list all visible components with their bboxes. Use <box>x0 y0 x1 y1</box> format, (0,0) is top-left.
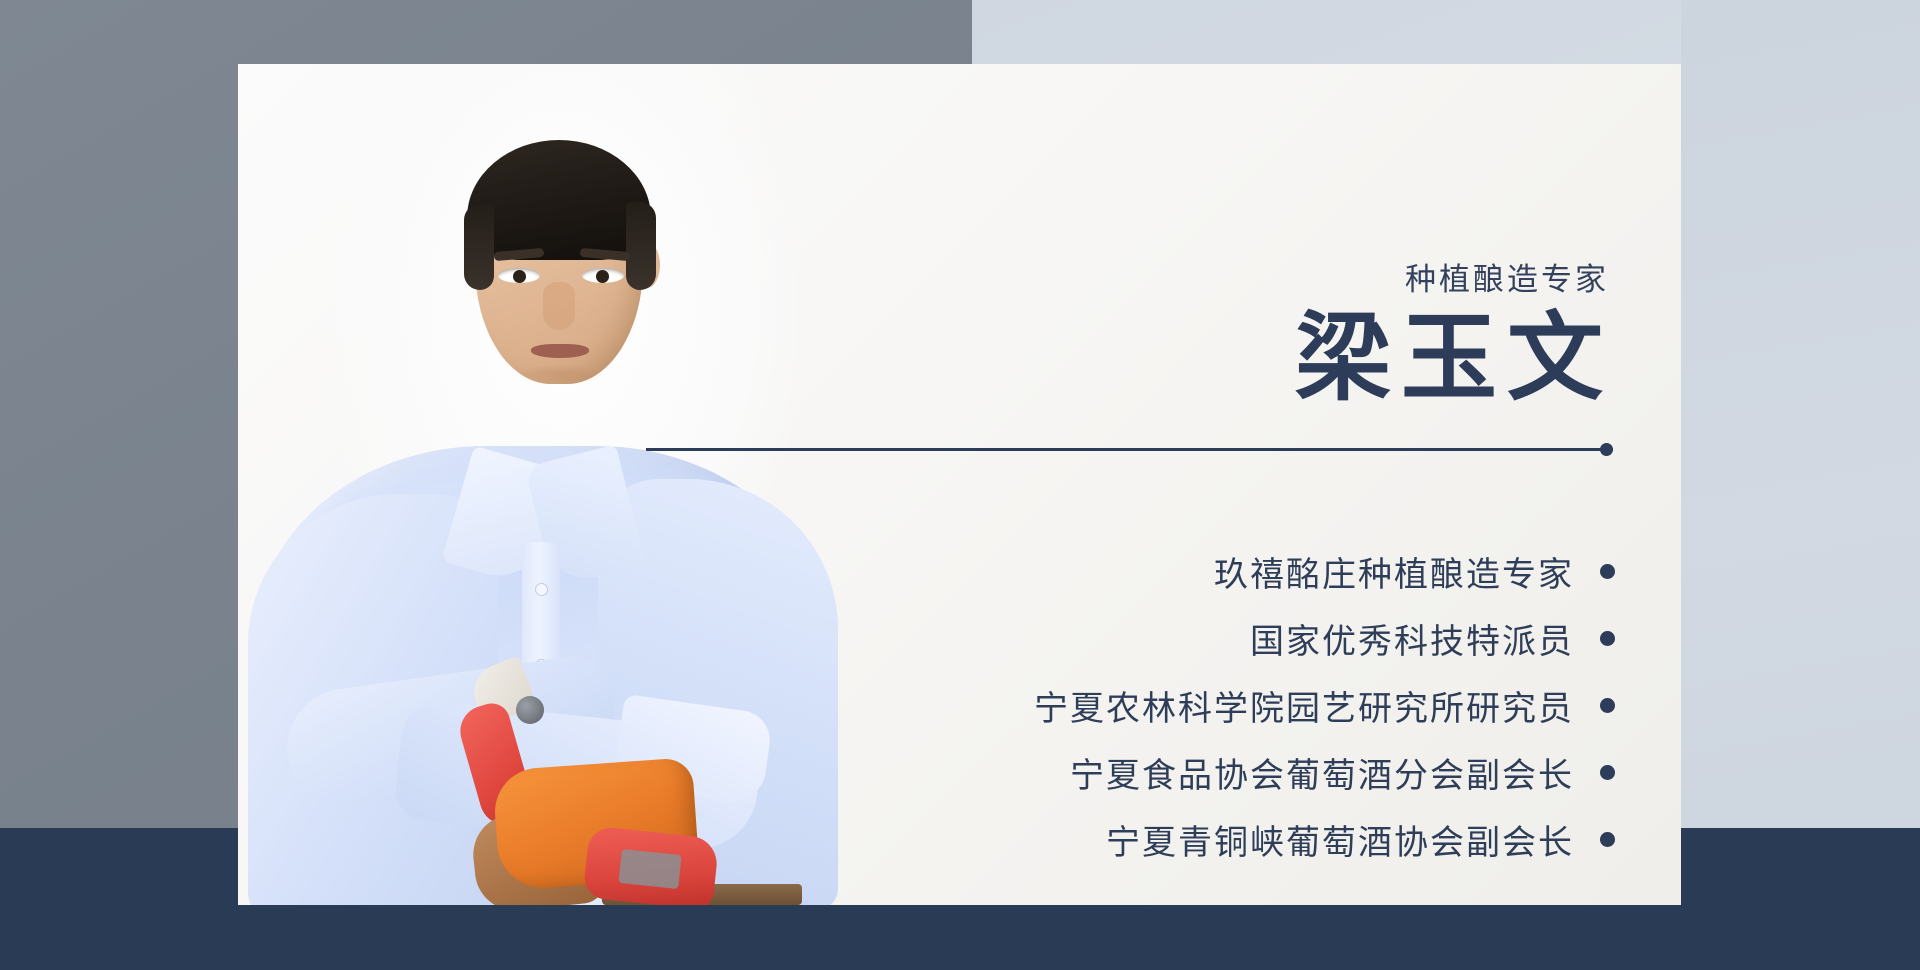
portrait-chin-shadow <box>514 364 606 384</box>
credential-item: 玖禧酩庄种植酿造专家 <box>735 538 1615 605</box>
credential-item: 宁夏农林科学院园艺研究所研究员 <box>735 672 1615 739</box>
credential-label: 玖禧酩庄种植酿造专家 <box>1214 547 1574 596</box>
credential-label: 宁夏食品协会葡萄酒分会副会长 <box>1070 748 1574 797</box>
portrait-hair-side-left <box>464 204 494 290</box>
credential-label: 国家优秀科技特派员 <box>1250 614 1574 663</box>
portrait-mouth <box>531 344 589 358</box>
credential-item: 宁夏青铜峡葡萄酒协会副会长 <box>735 806 1615 873</box>
portrait-hair-side-right <box>626 202 656 290</box>
divider-end-dot-icon <box>1600 443 1613 456</box>
portrait-pupil-right <box>596 270 609 283</box>
credentials-list: 玖禧酩庄种植酿造专家 国家优秀科技特派员 宁夏农林科学院园艺研究所研究员 宁夏食… <box>735 538 1615 873</box>
pruning-shear-label <box>618 849 681 889</box>
person-name: 梁玉文 <box>1295 306 1613 412</box>
bullet-dot-icon <box>1600 564 1615 579</box>
portrait-nose <box>543 282 575 330</box>
divider-line <box>646 448 1613 451</box>
bullet-dot-icon <box>1600 832 1615 847</box>
portrait-pupil-left <box>513 270 526 283</box>
portrait-shirt-button <box>536 584 547 595</box>
profile-card: 种植酿造专家 梁玉文 玖禧酩庄种植酿造专家 国家优秀科技特派员 宁夏农林科学院园… <box>238 64 1681 905</box>
credential-label: 宁夏农林科学院园艺研究所研究员 <box>1034 681 1574 730</box>
pruning-shear-pivot <box>516 696 544 724</box>
bullet-dot-icon <box>1600 631 1615 646</box>
bullet-dot-icon <box>1600 698 1615 713</box>
bullet-dot-icon <box>1600 765 1615 780</box>
credential-label: 宁夏青铜峡葡萄酒协会副会长 <box>1106 815 1574 864</box>
role-eyebrow: 种植酿造专家 <box>1405 254 1609 299</box>
poster-canvas: 种植酿造专家 梁玉文 玖禧酩庄种植酿造专家 国家优秀科技特派员 宁夏农林科学院园… <box>0 0 1920 970</box>
background-right-strip <box>1681 0 1920 860</box>
credential-item: 宁夏食品协会葡萄酒分会副会长 <box>735 739 1615 806</box>
credential-item: 国家优秀科技特派员 <box>735 605 1615 672</box>
